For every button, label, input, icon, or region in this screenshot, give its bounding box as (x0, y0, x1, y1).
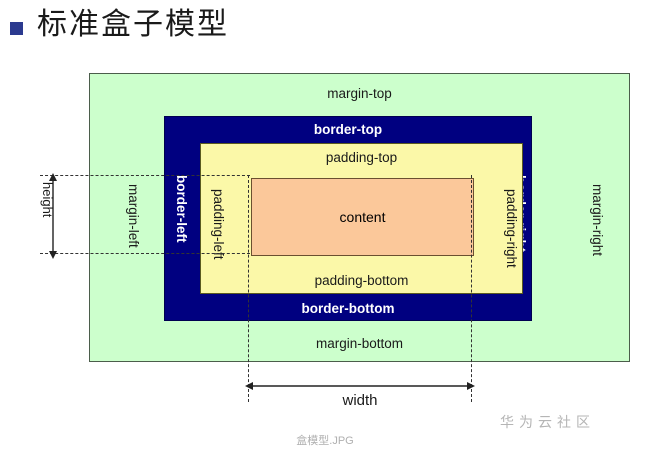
padding-right-label: padding-right (504, 189, 519, 268)
guide-line-content-bottom (40, 253, 250, 254)
margin-bottom-label: margin-bottom (90, 336, 629, 351)
margin-right-label: margin-right (590, 184, 605, 256)
watermark: 华为云社区 (500, 412, 595, 432)
page-title-row: 标准盒子模型 (10, 8, 229, 41)
border-top-label: border-top (165, 122, 531, 137)
content-box: content (251, 178, 474, 256)
padding-bottom-label: padding-bottom (201, 273, 522, 288)
content-label: content (340, 209, 386, 225)
page-title: 标准盒子模型 (37, 8, 229, 41)
guide-line-content-left (248, 175, 249, 402)
image-caption: 盒模型.JPG (0, 432, 650, 448)
padding-top-label: padding-top (201, 150, 522, 165)
padding-left-label: padding-left (211, 189, 226, 260)
guide-line-content-right (471, 175, 472, 402)
border-bottom-label: border-bottom (165, 301, 531, 316)
border-left-label: border-left (174, 175, 189, 243)
border-box: border-top border-bottom border-left bor… (164, 116, 532, 321)
height-label: height (40, 182, 55, 217)
margin-top-label: margin-top (90, 86, 629, 101)
width-label: width (244, 392, 476, 409)
margin-box: margin-top margin-bottom margin-left mar… (89, 73, 630, 362)
width-dimension-arrow (244, 379, 476, 393)
bullet-square-icon (10, 22, 23, 35)
guide-line-content-top (40, 175, 250, 176)
margin-left-label: margin-left (126, 184, 141, 248)
